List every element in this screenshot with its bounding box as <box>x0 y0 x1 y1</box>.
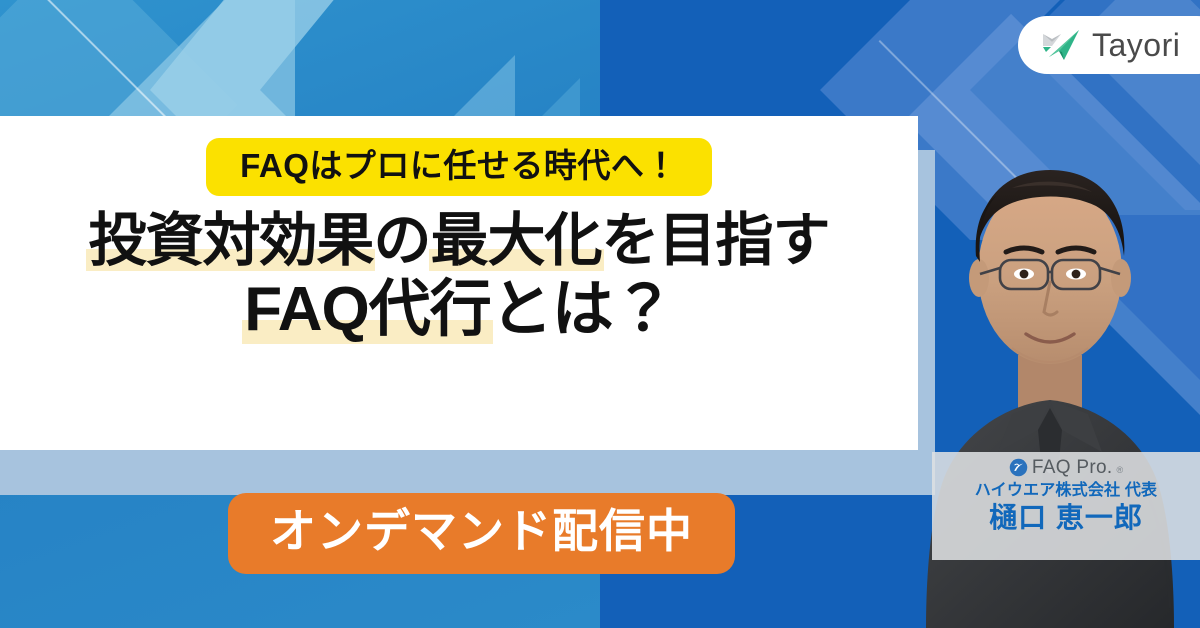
headline-highlight-1: 投資対効果 <box>88 208 373 274</box>
headline: 投資対効果の最大化を目指す FAQ代行とは？ <box>88 208 829 346</box>
webinar-banner: FAQはプロに任せる時代へ！ 投資対効果の最大化を目指す FAQ代行とは？ オン… <box>0 0 1200 628</box>
headline-highlight-2: 最大化 <box>431 208 602 274</box>
paper-plane-envelope-icon <box>1040 27 1082 63</box>
headline-highlight-3: FAQ代行 <box>244 275 490 345</box>
headline-plain-2: を目指す <box>602 208 830 273</box>
tayori-logo[interactable]: Tayori <box>1018 16 1200 74</box>
headline-plain-1: の <box>373 208 430 273</box>
registered-mark: ® <box>1116 466 1123 477</box>
headline-line-1: 投資対効果の最大化を目指す <box>88 208 829 274</box>
speaker-name: 樋口 恵一郎 <box>989 502 1143 534</box>
headline-line-2: FAQ代行とは？ <box>88 275 829 345</box>
tayori-wordmark: Tayori <box>1092 29 1180 61</box>
speaker-nameplate: FAQ Pro. ® ハイウエア株式会社 代表 樋口 恵一郎 <box>932 452 1200 560</box>
faq-pro-logo: FAQ Pro. ® <box>1009 458 1123 477</box>
headline-card: FAQはプロに任せる時代へ！ 投資対効果の最大化を目指す FAQ代行とは？ <box>0 116 918 450</box>
on-demand-cta-button[interactable]: オンデマンド配信中 <box>228 493 735 574</box>
eyebrow-badge: FAQはプロに任せる時代へ！ <box>206 138 712 196</box>
speaker-company: ハイウエア株式会社 代表 <box>975 481 1158 500</box>
headline-plain-3: とは？ <box>491 275 674 344</box>
faq-pro-wordmark: FAQ Pro. <box>1032 458 1113 477</box>
faq-pro-circle-icon <box>1009 458 1028 477</box>
